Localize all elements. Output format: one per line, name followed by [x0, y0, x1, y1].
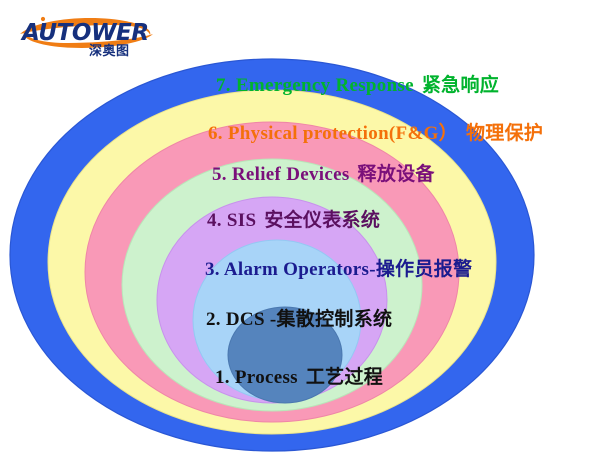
concentric-ellipses-graphic	[0, 0, 600, 464]
layer-6-en: 6. Physical protection(F&G）	[208, 123, 458, 144]
layer-4-en: 4. SIS	[207, 210, 256, 231]
autower-logo: AUTOWER 深奥图	[12, 8, 162, 58]
layer-label-7: 7. Emergency Response紧急响应	[216, 76, 499, 95]
logo-wordmark: AUTOWER	[20, 20, 149, 46]
layer-3-cn: 操作员报警	[376, 258, 473, 280]
layers-of-protection-diagram	[0, 0, 600, 464]
layer-3-en: 3. Alarm Operators-	[205, 259, 376, 280]
logo-chinese-name: 深奥图	[89, 43, 130, 58]
layer-label-5: 5. Relief Devices释放设备	[212, 165, 435, 184]
layer-label-3: 3. Alarm Operators-操作员报警	[205, 260, 472, 279]
layer-label-6: 6. Physical protection(F&G）物理保护	[208, 124, 543, 143]
layer-1-en: 1. Process	[215, 367, 298, 388]
layer-label-2: 2. DCS -集散控制系统	[206, 310, 392, 329]
layer-5-en: 5. Relief Devices	[212, 164, 350, 185]
layer-1-cn: 工艺过程	[306, 366, 383, 388]
autower-logo-graphic: AUTOWER 深奥图	[12, 8, 162, 58]
layer-4-cn: 安全仪表系统	[264, 209, 380, 231]
layer-2-en: 2. DCS -	[206, 309, 277, 330]
slide-canvas: AUTOWER 深奥图 7. Emergency Response紧急响	[0, 0, 600, 464]
layer-5-cn: 释放设备	[358, 163, 435, 185]
layer-label-1: 1. Process工艺过程	[215, 368, 383, 387]
layer-label-4: 4. SIS安全仪表系统	[207, 211, 380, 230]
logo-accent-dot-icon	[41, 17, 45, 21]
layer-2-cn: 集散控制系统	[277, 308, 393, 330]
layer-7-cn: 紧急响应	[422, 74, 499, 96]
layer-6-cn: 物理保护	[466, 122, 543, 144]
layer-7-en: 7. Emergency Response	[216, 75, 414, 96]
